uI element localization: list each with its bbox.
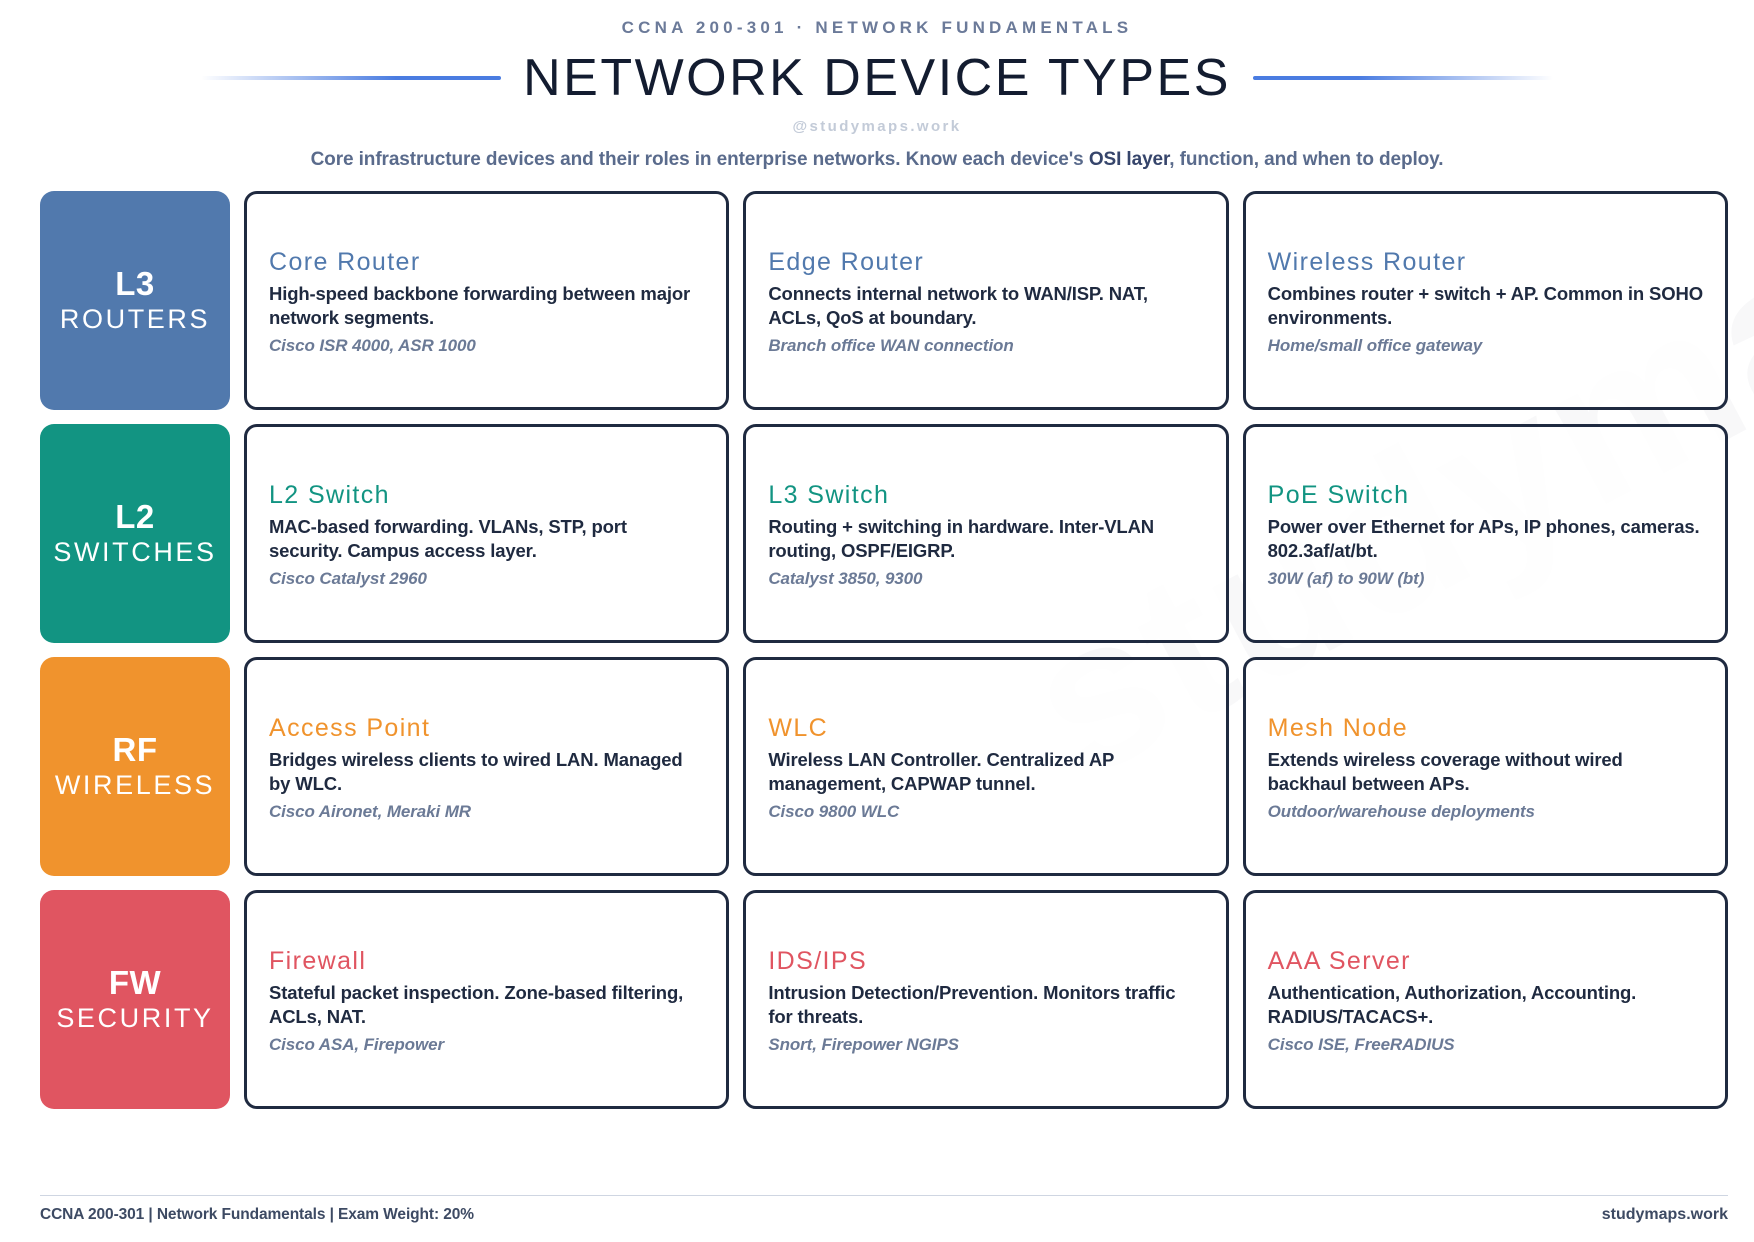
row-label-long: SECURITY <box>56 1003 213 1035</box>
device-card[interactable]: Edge Router Connects internal network to… <box>743 191 1228 410</box>
row-label-short: L2 <box>115 498 155 537</box>
device-description: Extends wireless coverage without wired … <box>1268 748 1703 797</box>
device-title: Core Router <box>269 249 704 277</box>
device-grid: L3 ROUTERS Core Router High-speed backbo… <box>0 191 1754 1109</box>
device-title: IDS/IPS <box>768 948 1203 976</box>
device-card[interactable]: WLC Wireless LAN Controller. Centralized… <box>743 657 1228 876</box>
device-example: 30W (af) to 90W (bt) <box>1268 569 1703 589</box>
row-label-short: RF <box>113 731 158 770</box>
row-label-long: ROUTERS <box>60 304 210 336</box>
row-label-short: FW <box>109 964 161 1003</box>
device-card[interactable]: Core Router High-speed backbone forwardi… <box>244 191 729 410</box>
eyebrow-label: CCNA 200-301 · NETWORK FUNDAMENTALS <box>0 18 1754 38</box>
device-example: Cisco Aironet, Meraki MR <box>269 802 704 822</box>
device-card[interactable]: AAA Server Authentication, Authorization… <box>1243 890 1728 1109</box>
header: CCNA 200-301 · NETWORK FUNDAMENTALS NETW… <box>0 0 1754 171</box>
device-card[interactable]: L3 Switch Routing + switching in hardwar… <box>743 424 1228 643</box>
device-card[interactable]: IDS/IPS Intrusion Detection/Prevention. … <box>743 890 1228 1109</box>
device-title: AAA Server <box>1268 948 1703 976</box>
device-example: Home/small office gateway <box>1268 336 1703 356</box>
row-wireless: RF WIRELESS Access Point Bridges wireles… <box>40 657 1728 876</box>
device-title: Access Point <box>269 715 704 743</box>
device-title: Firewall <box>269 948 704 976</box>
row-switches: L2 SWITCHES L2 Switch MAC-based forwardi… <box>40 424 1728 643</box>
device-example: Outdoor/warehouse deployments <box>1268 802 1703 822</box>
device-description: Intrusion Detection/Prevention. Monitors… <box>768 981 1203 1030</box>
device-example: Cisco ASA, Firepower <box>269 1035 704 1055</box>
subtitle: Core infrastructure devices and their ro… <box>0 149 1754 171</box>
row-label-security: FW SECURITY <box>40 890 230 1109</box>
row-security: FW SECURITY Firewall Stateful packet ins… <box>40 890 1728 1109</box>
device-title: L3 Switch <box>768 482 1203 510</box>
device-example: Cisco ISE, FreeRADIUS <box>1268 1035 1703 1055</box>
title-rule-right <box>1253 76 1553 80</box>
device-description: MAC-based forwarding. VLANs, STP, port s… <box>269 515 704 564</box>
device-description: Power over Ethernet for APs, IP phones, … <box>1268 515 1703 564</box>
device-card[interactable]: Access Point Bridges wireless clients to… <box>244 657 729 876</box>
device-example: Cisco ISR 4000, ASR 1000 <box>269 336 704 356</box>
device-example: Branch office WAN connection <box>768 336 1203 356</box>
handle-label: @studymaps.work <box>0 118 1754 135</box>
device-example: Cisco 9800 WLC <box>768 802 1203 822</box>
device-example: Cisco Catalyst 2960 <box>269 569 704 589</box>
device-title: L2 Switch <box>269 482 704 510</box>
device-description: High-speed backbone forwarding between m… <box>269 282 704 331</box>
title-row: NETWORK DEVICE TYPES <box>0 48 1754 108</box>
device-description: Authentication, Authorization, Accountin… <box>1268 981 1703 1030</box>
device-title: WLC <box>768 715 1203 743</box>
device-card[interactable]: Firewall Stateful packet inspection. Zon… <box>244 890 729 1109</box>
row-label-routers: L3 ROUTERS <box>40 191 230 410</box>
row-routers: L3 ROUTERS Core Router High-speed backbo… <box>40 191 1728 410</box>
device-card[interactable]: Wireless Router Combines router + switch… <box>1243 191 1728 410</box>
footer-exam-info: CCNA 200-301 | Network Fundamentals | Ex… <box>40 1206 474 1224</box>
page-title: NETWORK DEVICE TYPES <box>523 48 1231 108</box>
device-title: Edge Router <box>768 249 1203 277</box>
device-description: Stateful packet inspection. Zone-based f… <box>269 981 704 1030</box>
footer: CCNA 200-301 | Network Fundamentals | Ex… <box>40 1195 1728 1224</box>
row-label-wireless: RF WIRELESS <box>40 657 230 876</box>
title-rule-left <box>201 76 501 80</box>
device-description: Routing + switching in hardware. Inter-V… <box>768 515 1203 564</box>
row-label-short: L3 <box>115 265 155 304</box>
device-example: Snort, Firepower NGIPS <box>768 1035 1203 1055</box>
device-card[interactable]: Mesh Node Extends wireless coverage with… <box>1243 657 1728 876</box>
device-card[interactable]: PoE Switch Power over Ethernet for APs, … <box>1243 424 1728 643</box>
device-title: PoE Switch <box>1268 482 1703 510</box>
device-description: Wireless LAN Controller. Centralized AP … <box>768 748 1203 797</box>
device-description: Connects internal network to WAN/ISP. NA… <box>768 282 1203 331</box>
infographic-page: studymaps CCNA 200-301 · NETWORK FUNDAME… <box>0 0 1754 1242</box>
device-card[interactable]: L2 Switch MAC-based forwarding. VLANs, S… <box>244 424 729 643</box>
device-example: Catalyst 3850, 9300 <box>768 569 1203 589</box>
row-label-long: SWITCHES <box>53 537 216 569</box>
row-label-switches: L2 SWITCHES <box>40 424 230 643</box>
device-description: Combines router + switch + AP. Common in… <box>1268 282 1703 331</box>
device-description: Bridges wireless clients to wired LAN. M… <box>269 748 704 797</box>
device-title: Mesh Node <box>1268 715 1703 743</box>
footer-brand: studymaps.work <box>1602 1206 1728 1224</box>
row-label-long: WIRELESS <box>55 770 215 802</box>
device-title: Wireless Router <box>1268 249 1703 277</box>
